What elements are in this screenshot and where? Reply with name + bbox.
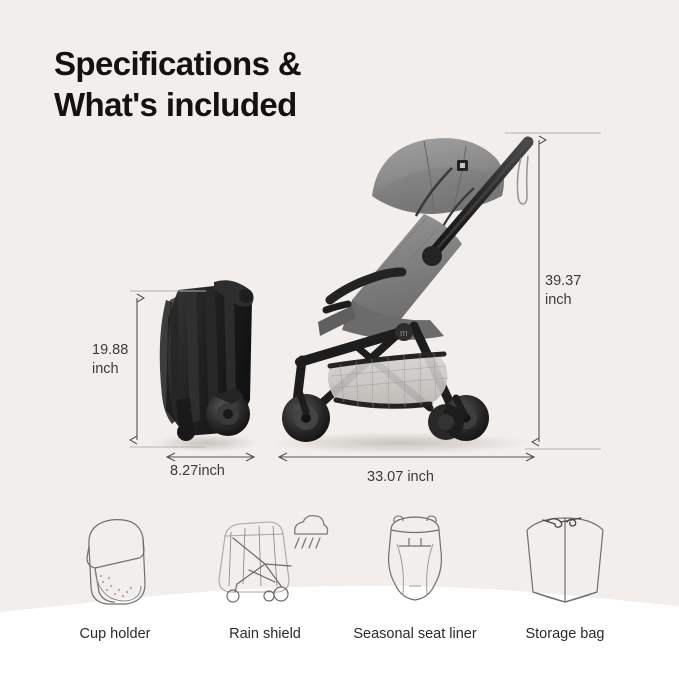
cup-holder-icon [53, 508, 177, 612]
accessory-item-seat-liner: Seasonal seat liner [340, 508, 490, 642]
storage-bag-icon [503, 508, 627, 612]
accessory-item-storage-bag: Storage bag [490, 508, 640, 642]
accessory-label-rain-shield: Rain shield [229, 626, 301, 642]
dimension-label-unfolded-length: 33.07 inch [367, 468, 434, 487]
rain-shield-icon [203, 508, 327, 612]
page-title: Specifications & What's included [54, 44, 474, 126]
dimension-label-folded-width: 8.27inch [170, 462, 225, 481]
unfolded-height-unit: inch [545, 291, 581, 310]
accessories-row: Cup holder [40, 508, 640, 658]
accessory-item-cup-holder: Cup holder [40, 508, 190, 642]
unfolded-height-value: 39.37 [545, 272, 581, 291]
folded-height-value: 19.88 [92, 341, 128, 360]
accessory-label-cup-holder: Cup holder [80, 626, 151, 642]
folded-height-unit: inch [92, 360, 128, 379]
seat-liner-icon [353, 508, 477, 612]
dimension-label-unfolded-height: 39.37 inch [545, 272, 581, 309]
accessory-label-storage-bag: Storage bag [525, 626, 604, 642]
dimension-label-folded-height: 19.88 inch [92, 341, 128, 378]
accessory-item-rain-shield: Rain shield [190, 508, 340, 642]
page-title-line-2: What's included [54, 85, 474, 126]
accessory-label-seat-liner: Seasonal seat liner [353, 626, 476, 642]
specifications-infographic: Specifications & What's included [0, 0, 679, 679]
page-title-line-1: Specifications & [54, 44, 474, 85]
